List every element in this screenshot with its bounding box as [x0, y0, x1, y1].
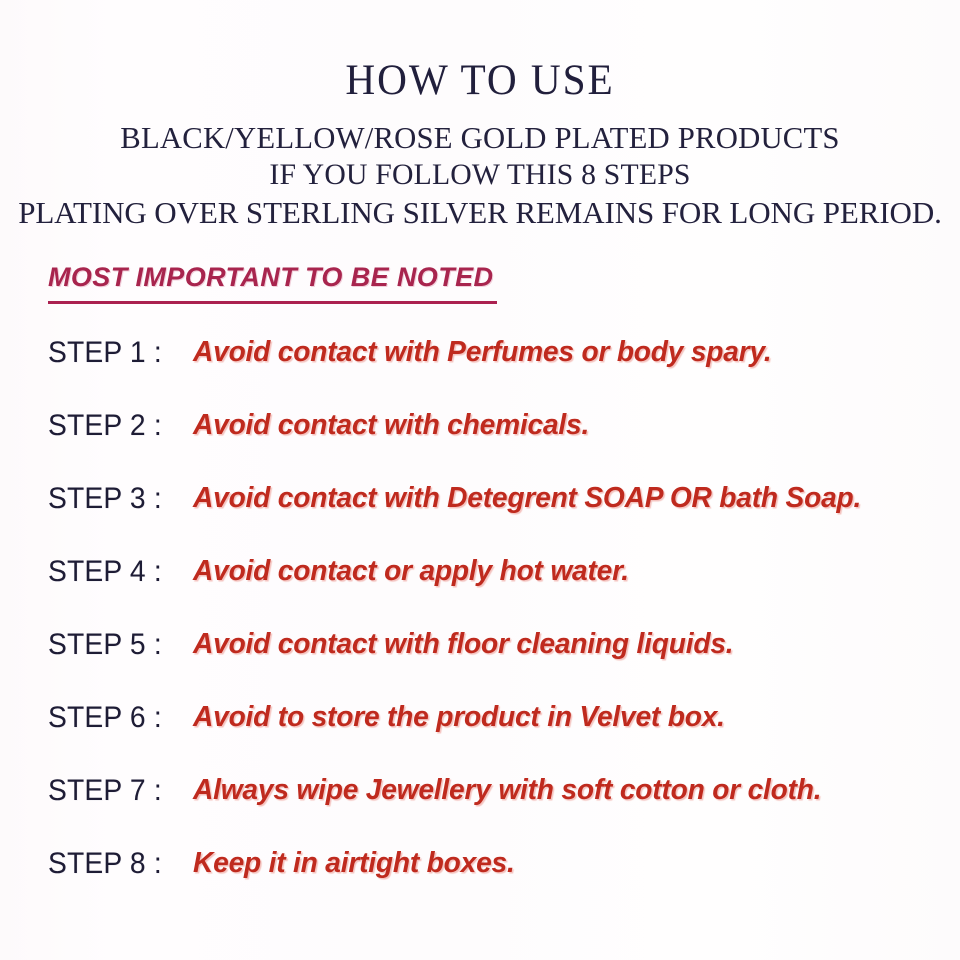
step-text: Avoid contact with Perfumes or body spar… — [193, 336, 772, 369]
step-text: Keep it in airtight boxes. — [193, 847, 515, 880]
step-text: Avoid contact with Detegrent SOAP OR bat… — [193, 482, 861, 515]
step-text: Avoid contact or apply hot water. — [193, 555, 629, 588]
steps-list: STEP 1 : Avoid contact with Perfumes or … — [48, 336, 940, 920]
step-row: STEP 3 : Avoid contact with Detegrent SO… — [48, 482, 940, 555]
step-row: STEP 8 : Keep it in airtight boxes. — [48, 847, 940, 920]
step-label: STEP 4 : — [48, 555, 184, 589]
step-row: STEP 4 : Avoid contact or apply hot wate… — [48, 555, 940, 628]
care-instructions-page: HOW TO USE BLACK/YELLOW/ROSE GOLD PLATED… — [0, 0, 960, 960]
step-label: STEP 6 : — [48, 701, 184, 735]
step-label: STEP 2 : — [48, 409, 184, 443]
step-text: Avoid to store the product in Velvet box… — [193, 701, 725, 734]
header-block: HOW TO USE BLACK/YELLOW/ROSE GOLD PLATED… — [0, 58, 960, 231]
page-title: HOW TO USE — [19, 58, 941, 103]
subtitle-line-1: BLACK/YELLOW/ROSE GOLD PLATED PRODUCTS — [5, 119, 955, 157]
step-text: Avoid contact with floor cleaning liquid… — [193, 628, 733, 661]
subtitle-line-3: PLATING OVER STERLING SILVER REMAINS FOR… — [0, 194, 960, 232]
step-label: STEP 8 : — [48, 847, 184, 881]
step-row: STEP 7 : Always wipe Jewellery with soft… — [48, 774, 940, 847]
subtitle-line-2: IF YOU FOLLOW THIS 8 STEPS — [5, 157, 955, 194]
step-text: Avoid contact with chemicals. — [193, 409, 589, 442]
step-text: Always wipe Jewellery with soft cotton o… — [193, 774, 821, 807]
step-row: STEP 2 : Avoid contact with chemicals. — [48, 409, 940, 482]
step-label: STEP 3 : — [48, 482, 184, 516]
step-label: STEP 7 : — [48, 774, 184, 808]
step-label: STEP 5 : — [48, 628, 184, 662]
step-row: STEP 6 : Avoid to store the product in V… — [48, 701, 940, 774]
most-important-heading: MOST IMPORTANT TO BE NOTED — [48, 262, 497, 304]
step-row: STEP 1 : Avoid contact with Perfumes or … — [48, 336, 940, 409]
step-row: STEP 5 : Avoid contact with floor cleani… — [48, 628, 940, 701]
subtitle-block: BLACK/YELLOW/ROSE GOLD PLATED PRODUCTS I… — [0, 119, 960, 231]
step-label: STEP 1 : — [48, 336, 184, 370]
